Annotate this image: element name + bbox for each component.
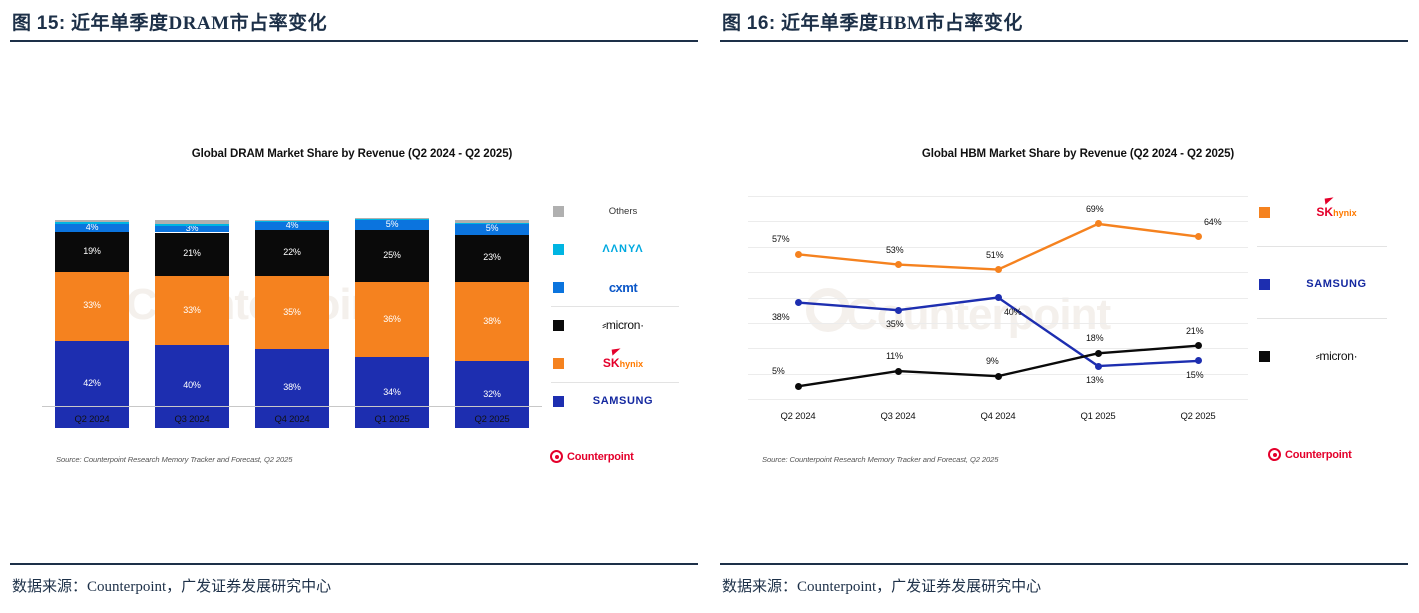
dram-segment-micron: 25% xyxy=(355,230,429,282)
legend-swatch-icon xyxy=(553,206,564,217)
dram-x-axis xyxy=(42,406,542,407)
hbm-line-sk_hynix xyxy=(798,224,1198,270)
hbm-point-sk_hynix[interactable] xyxy=(795,251,802,258)
figure-15-number: 15 xyxy=(37,13,59,34)
hbm-value-label: 38% xyxy=(772,312,789,322)
dram-segment-micron: 19% xyxy=(55,232,129,272)
hbm-point-micron[interactable] xyxy=(995,373,1002,380)
brand-skhynix-logo: SKhynix xyxy=(1316,205,1356,219)
figure-15-prefix: 图 xyxy=(12,13,32,34)
legend-swatch-icon xyxy=(553,396,564,407)
hbm-x-label: Q2 2025 xyxy=(1148,411,1248,422)
dram-segment-cxmt: 4% xyxy=(55,224,129,232)
dram-value-label: 19% xyxy=(55,246,129,256)
legend-swatch-icon xyxy=(1259,351,1270,362)
hbm-value-label: 21% xyxy=(1186,326,1203,336)
dram-source-line: Source: Counterpoint Research Memory Tra… xyxy=(56,455,292,464)
hbm-value-label: 5% xyxy=(772,366,785,376)
dram-segment-others xyxy=(155,220,229,224)
dram-value-label: 36% xyxy=(355,314,429,324)
dram-segment-sk_hynix: 36% xyxy=(355,282,429,357)
legend-divider xyxy=(1257,246,1387,247)
dram-bar-q3-2024[interactable]: 40%33%21%3% xyxy=(155,220,229,428)
hbm-point-samsung[interactable] xyxy=(895,307,902,314)
dram-x-label: Q3 2024 xyxy=(142,414,242,425)
counterpoint-mark-icon xyxy=(550,450,563,463)
hbm-point-samsung[interactable] xyxy=(995,294,1002,301)
dram-bar-q4-2024[interactable]: 38%35%22%4% xyxy=(255,220,329,428)
dram-segment-nanya xyxy=(455,223,529,224)
dram-bar-q2-2024[interactable]: 42%33%19%4% xyxy=(55,220,129,428)
hbm-legend: SKhynixSAMSUNG⸗micron· xyxy=(1253,200,1403,430)
dram-segment-others xyxy=(355,218,429,219)
dram-segment-nanya xyxy=(255,221,329,222)
dram-segment-nanya xyxy=(55,222,129,224)
sk-hynix-wing-icon xyxy=(1325,197,1335,204)
dram-segment-sk_hynix: 35% xyxy=(255,276,329,349)
dram-legend-item-samsung[interactable]: SAMSUNG xyxy=(547,390,682,412)
figure-15-bottom-rule xyxy=(10,563,698,565)
dram-market-share-chart: Global DRAM Market Share by Revenue (Q2 … xyxy=(42,148,662,478)
figure-16-heading: 图 16: 近年单季度HBM市占率变化 xyxy=(722,8,1023,35)
hbm-value-label: 64% xyxy=(1204,217,1221,227)
dram-value-label: 32% xyxy=(455,389,529,399)
figure-15-top-rule xyxy=(10,40,698,42)
hbm-legend-item-samsung[interactable]: SAMSUNG xyxy=(1253,272,1403,296)
dram-legend-item-others[interactable]: Others xyxy=(547,200,682,222)
hbm-value-label: 69% xyxy=(1086,204,1103,214)
legend-divider xyxy=(551,382,679,383)
legend-text: SAMSUNG xyxy=(1270,278,1403,290)
dram-segment-cxmt: 3% xyxy=(155,226,229,232)
counterpoint-wordmark: Counterpoint xyxy=(1285,449,1352,461)
legend-divider xyxy=(551,306,679,307)
hbm-legend-item-sk-hynix[interactable]: SKhynix xyxy=(1253,200,1403,224)
legend-swatch-icon xyxy=(553,320,564,331)
hbm-point-micron[interactable] xyxy=(1195,342,1202,349)
figure-16-bottom-rule xyxy=(720,563,1408,565)
figure-15-source: 数据来源：Counterpoint，广发证券发展研究中心 xyxy=(12,575,331,596)
legend-text: SKhynix xyxy=(1270,205,1403,219)
figure-16-prefix: 图 xyxy=(722,13,742,34)
legend-swatch-icon xyxy=(553,282,564,293)
legend-label: Others xyxy=(609,206,638,217)
dram-value-label: 22% xyxy=(255,247,329,257)
hbm-source-line: Source: Counterpoint Research Memory Tra… xyxy=(762,455,998,464)
brand-micron-logo: ⸗micron· xyxy=(602,318,644,332)
dram-value-label: 35% xyxy=(255,307,329,317)
dram-legend-item-sk-hynix[interactable]: SKhynix xyxy=(547,352,682,374)
dram-x-label: Q1 2025 xyxy=(342,414,442,425)
hbm-value-label: 35% xyxy=(886,319,903,329)
dram-legend-item-micron[interactable]: ⸗micron· xyxy=(547,314,682,336)
hbm-x-label: Q1 2025 xyxy=(1048,411,1148,422)
brand-nanya-logo: ΛΛΝΥΛ xyxy=(602,243,643,255)
dram-segment-micron: 21% xyxy=(155,233,229,277)
hbm-point-micron[interactable] xyxy=(895,368,902,375)
dram-value-label: 33% xyxy=(155,305,229,315)
figure-15-heading: 图 15: 近年单季度DRAM市占率变化 xyxy=(12,8,327,35)
brand-samsung-logo: SAMSUNG xyxy=(1306,278,1366,290)
dram-value-label: 21% xyxy=(155,248,229,258)
dram-x-label: Q2 2024 xyxy=(42,414,142,425)
dram-x-label: Q4 2024 xyxy=(242,414,342,425)
hbm-gridline xyxy=(748,399,1248,400)
legend-swatch-icon xyxy=(553,358,564,369)
legend-text: Others xyxy=(564,206,682,217)
brand-micron-logo: ⸗micron· xyxy=(1316,349,1358,363)
dram-segment-sk_hynix: 33% xyxy=(155,276,229,345)
hbm-point-samsung[interactable] xyxy=(795,299,802,306)
figure-16-source: 数据来源：Counterpoint，广发证券发展研究中心 xyxy=(722,575,1041,596)
legend-divider xyxy=(1257,318,1387,319)
hbm-x-label: Q4 2024 xyxy=(948,411,1048,422)
dram-value-label: 38% xyxy=(455,316,529,326)
dram-value-label: 5% xyxy=(355,219,429,229)
hbm-point-sk_hynix[interactable] xyxy=(995,266,1002,273)
brand-samsung-logo: SAMSUNG xyxy=(593,395,653,407)
legend-text: SAMSUNG xyxy=(564,395,682,407)
dram-segment-nanya xyxy=(155,224,229,226)
hbm-value-label: 13% xyxy=(1086,375,1103,385)
legend-text: ⸗micron· xyxy=(1270,349,1403,363)
dram-segment-cxmt: 4% xyxy=(255,222,329,230)
hbm-point-samsung[interactable] xyxy=(1195,357,1202,364)
counterpoint-mark-icon xyxy=(1268,448,1281,461)
hbm-x-label: Q3 2024 xyxy=(848,411,948,422)
hbm-value-label: 9% xyxy=(986,356,999,366)
dram-segment-nanya xyxy=(355,219,429,220)
hbm-point-samsung[interactable] xyxy=(1095,363,1102,370)
counterpoint-logo-left: Counterpoint xyxy=(550,450,634,463)
dram-segment-others xyxy=(55,220,129,222)
hbm-point-sk_hynix[interactable] xyxy=(1195,233,1202,240)
dram-value-label: 33% xyxy=(55,300,129,310)
counterpoint-wordmark: Counterpoint xyxy=(567,451,634,463)
brand-cxmt-logo: cxmt xyxy=(609,280,637,295)
dram-value-label: 25% xyxy=(355,250,429,260)
dram-segment-cxmt: 5% xyxy=(355,220,429,230)
dram-chart-title: Global DRAM Market Share by Revenue (Q2 … xyxy=(42,148,662,160)
dram-segment-sk_hynix: 38% xyxy=(455,282,529,361)
counterpoint-logo-right: Counterpoint xyxy=(1268,448,1352,461)
dram-bar-q1-2025[interactable]: 34%36%25%5% xyxy=(355,220,429,428)
hbm-chart-title: Global HBM Market Share by Revenue (Q2 2… xyxy=(748,148,1408,160)
dram-value-label: 5% xyxy=(455,223,529,233)
dram-value-label: 23% xyxy=(455,252,529,262)
figure-panel-16: 图 16: 近年单季度HBM市占率变化 数据来源：Counterpoint，广发… xyxy=(710,0,1419,613)
hbm-point-micron[interactable] xyxy=(795,383,802,390)
figure-15-colon: : xyxy=(59,13,66,34)
dram-value-label: 40% xyxy=(155,380,229,390)
hbm-legend-item-micron[interactable]: ⸗micron· xyxy=(1253,344,1403,368)
dram-segment-micron: 22% xyxy=(255,230,329,276)
legend-text: cxmt xyxy=(564,280,682,295)
hbm-value-label: 57% xyxy=(772,234,789,244)
legend-text: ΛΛΝΥΛ xyxy=(564,243,682,255)
hbm-plot-area: 57%53%51%69%64%38%35%40%13%15%5%11%9%18%… xyxy=(748,196,1248,431)
brand-skhynix-logo: SKhynix xyxy=(603,356,643,370)
hbm-x-label: Q2 2024 xyxy=(748,411,848,422)
legend-text: SKhynix xyxy=(564,356,682,370)
legend-swatch-icon xyxy=(1259,207,1270,218)
figure-16-title-text: 近年单季度HBM市占率变化 xyxy=(781,13,1023,34)
dram-value-label: 38% xyxy=(255,382,329,392)
dram-bar-q2-2025[interactable]: 32%38%23%5% xyxy=(455,220,529,428)
hbm-value-label: 15% xyxy=(1186,370,1203,380)
dram-legend-item-cxmt[interactable]: cxmt xyxy=(547,276,682,298)
dram-value-label: 42% xyxy=(55,378,129,388)
legend-swatch-icon xyxy=(1259,279,1270,290)
dram-segment-micron: 23% xyxy=(455,235,529,283)
dram-x-label: Q2 2025 xyxy=(442,414,542,425)
figure-15-title-text: 近年单季度DRAM市占率变化 xyxy=(71,13,327,34)
dram-segment-others xyxy=(255,220,329,221)
hbm-point-sk_hynix[interactable] xyxy=(1095,220,1102,227)
dram-segment-cxmt: 5% xyxy=(455,224,529,234)
hbm-value-label: 11% xyxy=(886,351,903,361)
dram-segment-sk_hynix: 33% xyxy=(55,272,129,341)
dram-value-label: 34% xyxy=(355,387,429,397)
hbm-market-share-chart: Global HBM Market Share by Revenue (Q2 2… xyxy=(748,148,1408,478)
dram-legend-item-nanya[interactable]: ΛΛΝΥΛ xyxy=(547,238,682,260)
figure-16-number: 16 xyxy=(747,13,769,34)
sk-hynix-wing-icon xyxy=(612,348,622,355)
hbm-value-label: 40% xyxy=(1004,307,1021,317)
hbm-value-label: 18% xyxy=(1086,333,1103,343)
hbm-value-label: 53% xyxy=(886,245,903,255)
hbm-point-micron[interactable] xyxy=(1095,350,1102,357)
figure-panel-15: 图 15: 近年单季度DRAM市占率变化 数据来源：Counterpoint，广… xyxy=(0,0,709,613)
dram-segment-others xyxy=(455,220,529,223)
legend-swatch-icon xyxy=(553,244,564,255)
figure-16-colon: : xyxy=(769,13,776,34)
legend-text: ⸗micron· xyxy=(564,318,682,332)
hbm-point-sk_hynix[interactable] xyxy=(895,261,902,268)
figure-16-top-rule xyxy=(720,40,1408,42)
dram-plot-area: 42%33%19%4%Q2 202440%33%21%3%Q3 202438%3… xyxy=(42,198,542,428)
dram-legend: OthersΛΛΝΥΛcxmt⸗micron·SKhynixSAMSUNG xyxy=(547,200,682,428)
hbm-value-label: 51% xyxy=(986,250,1003,260)
